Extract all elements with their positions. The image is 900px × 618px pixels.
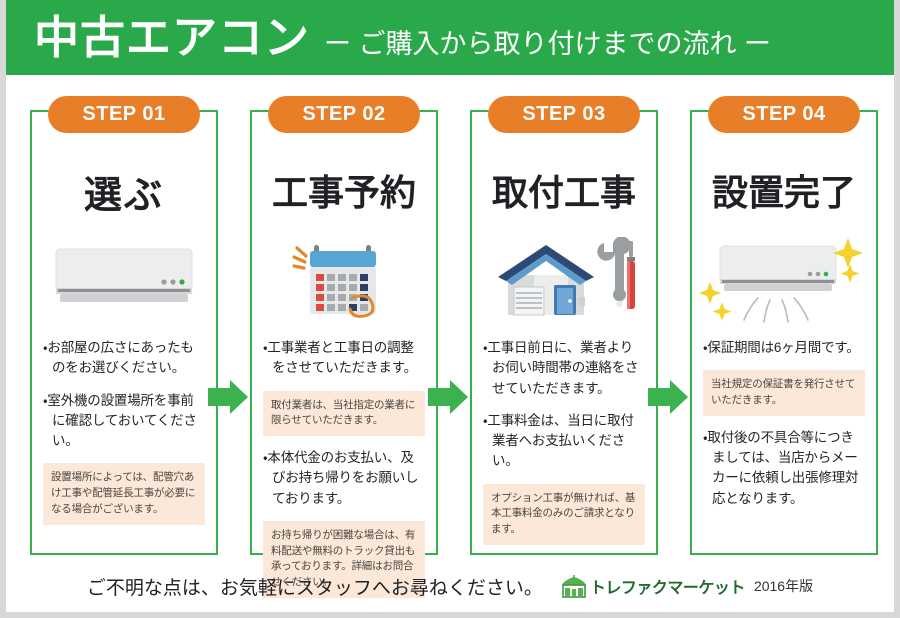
step-badge-3: STEP 03 [488,96,640,133]
step-title-3: 取付工事 [472,164,656,216]
footer: ご不明な点は、お気軽にスタッフへお尋ねください。 トレファクマーケット 2016… [6,560,894,612]
step-illustration-4 [692,224,876,332]
step-note: 当社規定の保証書を発行させていただきます。 [703,370,865,416]
step-body-3: ・工事日前日に、業者よりお伺い時間帯の連絡をさせていただきます。 ・工事料金は、… [483,338,645,557]
step-bullet: ・工事日前日に、業者よりお伺い時間帯の連絡をさせていただきます。 [483,338,645,399]
step-card-4: 設置完了 [690,110,878,555]
step-title-4: 設置完了 [692,164,876,216]
step-bullet: ・保証期間は6ヶ月間です。 [703,338,865,358]
calendar-icon [288,232,400,324]
step-bullet: ・工事業者と工事日の調整をさせていただきます。 [263,338,425,379]
flow-arrow-3 [646,378,690,416]
step-note: 取付業者は、当社指定の業者に限らせていただきます。 [263,391,425,437]
step-body-1: ・お部屋の広さにあったものをお選びください。 ・室外機の設置場所を事前に確認して… [43,338,205,537]
step-title-1: 選ぶ [32,164,216,219]
step-illustration-3 [472,224,656,332]
steps-container: 選ぶ ・お部屋の広さにあったものをお選びください。 ・室外機の設置場所を事前に確… [6,75,894,560]
tent-logo-icon [561,574,587,598]
step-title-2: 工事予約 [252,164,436,216]
brand-logo-text: トレファクマーケット [590,574,745,598]
page-subtitle: ー ご購入から取り付けまでの流れ ー [324,22,771,61]
flow-arrow-1 [206,378,250,416]
step-badge-4: STEP 04 [708,96,860,133]
step-illustration-1 [32,224,216,332]
flow-arrow-2 [426,378,470,416]
step-bullet: ・本体代金のお支払い、及びお持ち帰りをお願いしております。 [263,448,425,509]
house-tools-icon [492,237,636,319]
air-conditioner-icon [54,247,194,309]
step-bullet: ・お部屋の広さにあったものをお選びください。 [43,338,205,379]
step-badge-2: STEP 02 [268,96,420,133]
step-badge-1: STEP 01 [48,96,200,133]
brand-logo: トレファクマーケット [561,574,745,598]
infographic-page: 中古エアコン ー ご購入から取り付けまでの流れ ー 選ぶ ・お部屋の広さにあ [0,0,900,618]
step-bullet: ・室外機の設置場所を事前に確認しておいてください。 [43,391,205,452]
step-body-4: ・保証期間は6ヶ月間です。 当社規定の保証書を発行させていただきます。 ・取付後… [703,338,865,521]
step-card-3: 取付工事 [470,110,658,555]
step-card-1: 選ぶ ・お部屋の広さにあったものをお選びください。 ・室外機の設置場所を事前に確… [30,110,218,555]
step-card-2: 工事予約 [250,110,438,555]
step-note: オプション工事が無ければ、基本工事料金のみのご請求となります。 [483,484,645,545]
page-title: 中古エアコン [34,15,310,60]
step-note: 設置場所によっては、配管穴あけ工事や配管延長工事が必要になる場合がございます。 [43,463,205,524]
step-illustration-2 [252,224,436,332]
air-conditioner-sparkle-icon [698,228,870,328]
step-bullet: ・工事料金は、当日に取付業者へお支払いください。 [483,411,645,472]
header-banner-inner: 中古エアコン ー ご購入から取り付けまでの流れ ー [6,15,771,61]
step-bullet: ・取付後の不具合等につきましては、当店からメーカーに依頼し出張修理対応となります… [703,428,865,509]
footer-message: ご不明な点は、お気軽にスタッフへお尋ねください。 [87,573,543,600]
header-banner: 中古エアコン ー ご購入から取り付けまでの流れ ー [6,0,894,75]
edition-year: 2016年版 [754,576,813,596]
